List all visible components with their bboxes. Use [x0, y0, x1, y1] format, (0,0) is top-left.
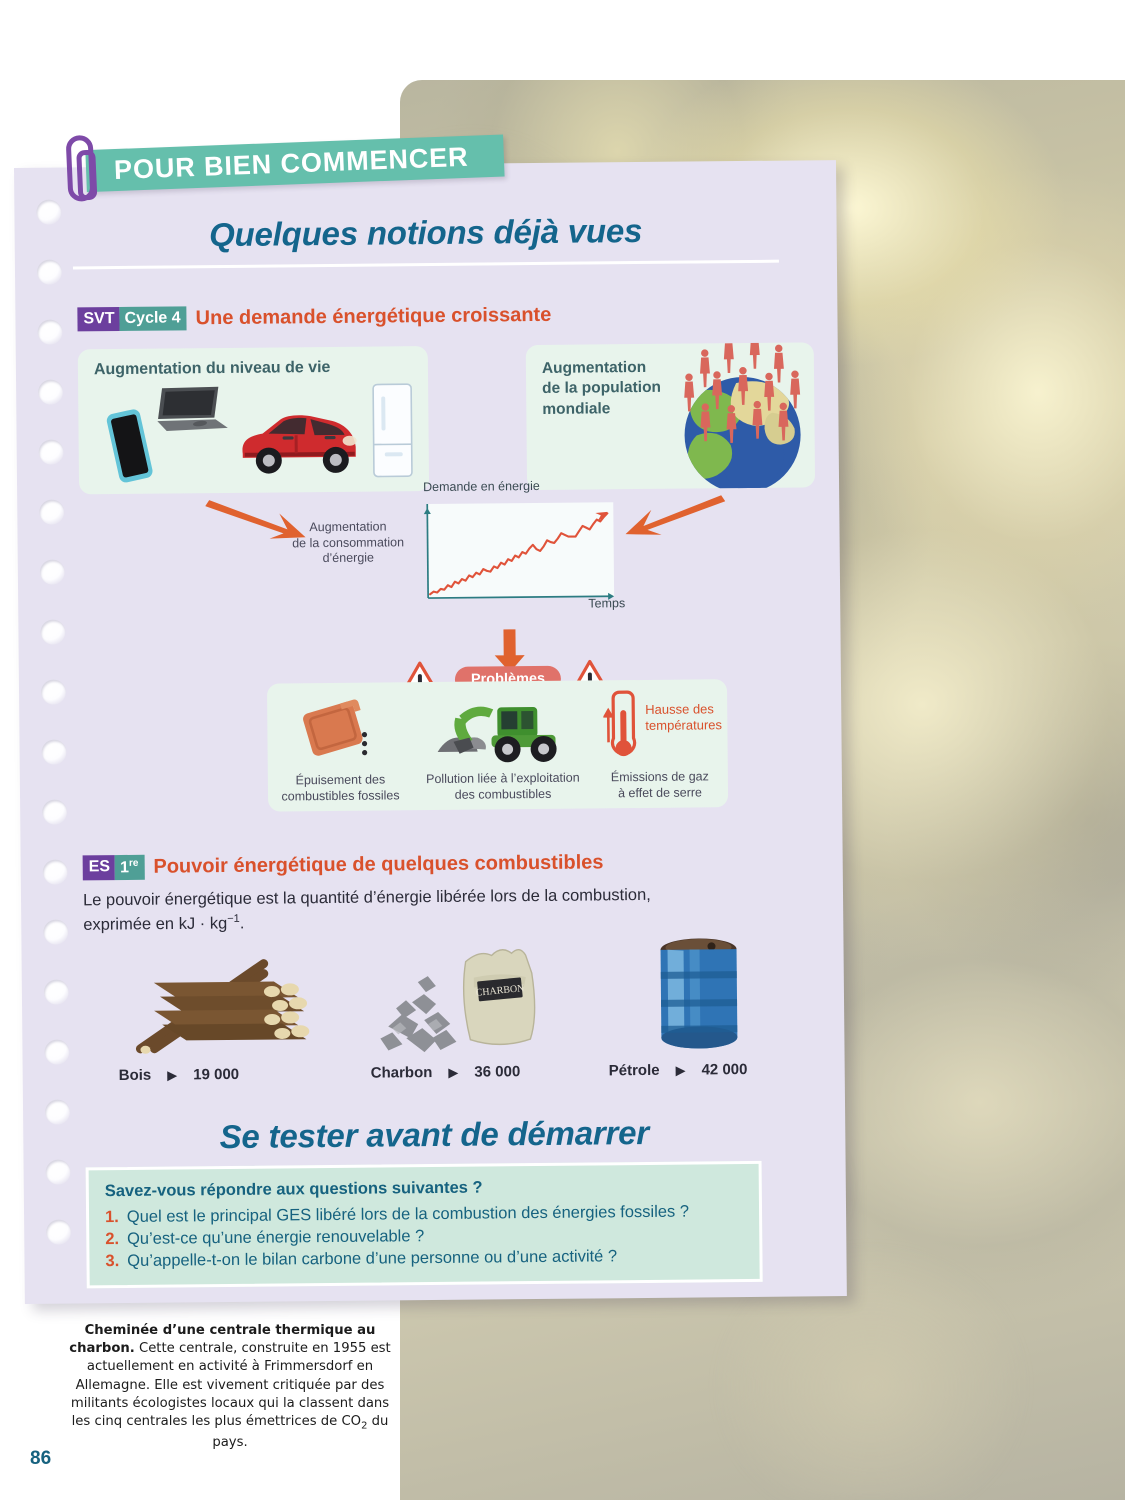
paperclip-icon — [66, 135, 96, 202]
punch-hole — [42, 800, 67, 825]
coal-sack-icon: CHARBON — [373, 941, 554, 1061]
punch-hole — [37, 320, 62, 345]
punch-hole — [39, 440, 64, 465]
heading-divider — [73, 260, 779, 270]
page-banner: POUR BIEN COMMENCER — [85, 134, 504, 192]
badge-level: Cycle 4 — [119, 306, 186, 331]
badge-level: 1re — [115, 855, 145, 881]
triangle-right-icon: ▶ — [675, 1062, 685, 1078]
fuel-name: Bois — [119, 1067, 152, 1084]
fuel-value: 19 000 — [193, 1066, 239, 1083]
section-heading-se-tester: Se tester avant de démarrer — [23, 1112, 845, 1158]
excavator-icon — [435, 689, 576, 768]
punch-hole — [44, 1040, 69, 1065]
fuel-value: 42 000 — [701, 1061, 747, 1078]
punch-hole — [44, 980, 69, 1005]
laptop-icon — [151, 380, 236, 443]
consumption-line2: de la consommation — [286, 535, 411, 552]
thermometer-icon — [603, 690, 644, 766]
globe-people-icon — [666, 342, 816, 490]
quiz-item: 2. Qu’est-ce qu’une énergie renouvelable… — [105, 1224, 743, 1249]
punch-hole — [40, 560, 65, 585]
quiz-item: 3. Qu’appelle-t-on le bilan carbone d’un… — [105, 1246, 743, 1271]
energy-demand-chart: Demande en énergie Temps — [417, 498, 623, 630]
problem-caption-0: Épuisement des combustibles fossiles — [278, 772, 403, 804]
punch-hole — [38, 380, 63, 405]
quiz-number: 1. — [105, 1208, 119, 1227]
fuel-row-petrole: Pétrole ▶ 42 000 — [609, 1061, 748, 1079]
consumption-label: Augmentation de la consommation d’énergi… — [285, 519, 410, 567]
punch-hole — [41, 740, 66, 765]
box-population-mondiale: Augmentation de la population mondiale — [526, 342, 815, 490]
jerrycan-icon — [301, 699, 378, 762]
box-problemes: Hausse des températures Épuisement des c… — [267, 679, 728, 811]
smartphone-icon — [106, 407, 153, 485]
box-niveau-de-vie: Augmentation du niveau de vie — [78, 346, 429, 494]
punch-hole — [39, 500, 64, 525]
fuel-value: 36 000 — [474, 1063, 520, 1080]
temp-rise-line1: Hausse des — [645, 701, 741, 718]
banner-title: POUR BIEN COMMENCER — [86, 141, 470, 186]
punch-hole — [40, 620, 65, 645]
quiz-prompt: Savez-vous répondre aux questions suivan… — [105, 1176, 743, 1201]
consumption-line1: Augmentation — [285, 519, 410, 536]
box-niveau-de-vie-title: Augmentation du niveau de vie — [78, 346, 428, 379]
punch-hole — [46, 1160, 71, 1185]
badge-subject: SVT — [77, 307, 119, 331]
refrigerator-icon — [370, 382, 415, 478]
temp-rise-line2: températures — [645, 717, 741, 734]
page-number: 86 — [30, 1448, 51, 1470]
section1-title: Une demande énergétique croissante — [196, 303, 552, 329]
description-line2: exprimée en kJ · kg−1. — [83, 907, 733, 938]
punch-hole — [41, 680, 66, 705]
fuel-row-charbon: Charbon ▶ 36 000 — [371, 1063, 521, 1081]
box-population-title-line1: Augmentation — [542, 358, 661, 380]
punch-hole — [46, 1220, 71, 1245]
badge-subject: ES — [83, 855, 116, 881]
quiz-text: Quel est le principal GES libéré lors de… — [127, 1203, 689, 1227]
section2-description: Le pouvoir énergétique est la quantité d… — [83, 883, 733, 938]
consumption-line3: d’énergie — [286, 550, 411, 567]
oil-barrel-icon — [643, 933, 754, 1058]
fuel-name: Pétrole — [609, 1062, 660, 1079]
section2-title: Pouvoir énergétique de quelques combusti… — [153, 852, 603, 879]
photo-caption: Cheminée d’une centrale thermique au cha… — [60, 1322, 400, 1452]
punch-hole — [43, 860, 68, 885]
punch-hole — [43, 920, 68, 945]
quiz-number: 3. — [105, 1252, 119, 1271]
fuel-row-bois: Bois ▶ 19 000 — [119, 1066, 240, 1084]
arrow-down-left-icon — [615, 491, 725, 540]
badge-es-1re: ES 1re — [83, 855, 145, 881]
triangle-right-icon: ▶ — [167, 1067, 177, 1083]
car-icon — [236, 405, 362, 478]
temperature-rise-label: Hausse des températures — [645, 701, 741, 733]
quiz-number: 2. — [105, 1230, 119, 1249]
worksheet-card: POUR BIEN COMMENCER Quelques notions déj… — [14, 160, 847, 1304]
badge-svt-cycle4: SVT Cycle 4 — [77, 306, 186, 331]
problem-caption-1: Pollution liée à l’exploitation des comb… — [410, 770, 596, 803]
quiz-text: Qu’est-ce qu’une énergie renouvelable ? — [127, 1227, 424, 1249]
problem-caption-2: Émissions de gaz à effet de serre — [598, 769, 722, 801]
chart-xlabel: Temps — [588, 596, 625, 610]
quiz-item: 1. Quel est le principal GES libéré lors… — [105, 1202, 743, 1227]
wood-logs-icon — [114, 947, 315, 1061]
quiz-box: Savez-vous répondre aux questions suivan… — [86, 1161, 763, 1288]
box-population-title-line2: de la population — [542, 378, 661, 400]
box-population-title-line3: mondiale — [542, 399, 661, 421]
fuel-name: Charbon — [371, 1064, 433, 1082]
section1-header: SVT Cycle 4 Une demande énergétique croi… — [77, 303, 551, 332]
triangle-right-icon: ▶ — [448, 1064, 458, 1080]
quiz-text: Qu’appelle-t-on le bilan carbone d’une p… — [127, 1247, 617, 1271]
section2-header: ES 1re Pouvoir énergétique de quelques c… — [83, 850, 604, 880]
caption-line5: plus émettrices de CO — [214, 1414, 361, 1429]
section-heading-notions: Quelques notions déjà vues — [14, 210, 836, 256]
chart-ylabel: Demande en énergie — [423, 479, 540, 494]
